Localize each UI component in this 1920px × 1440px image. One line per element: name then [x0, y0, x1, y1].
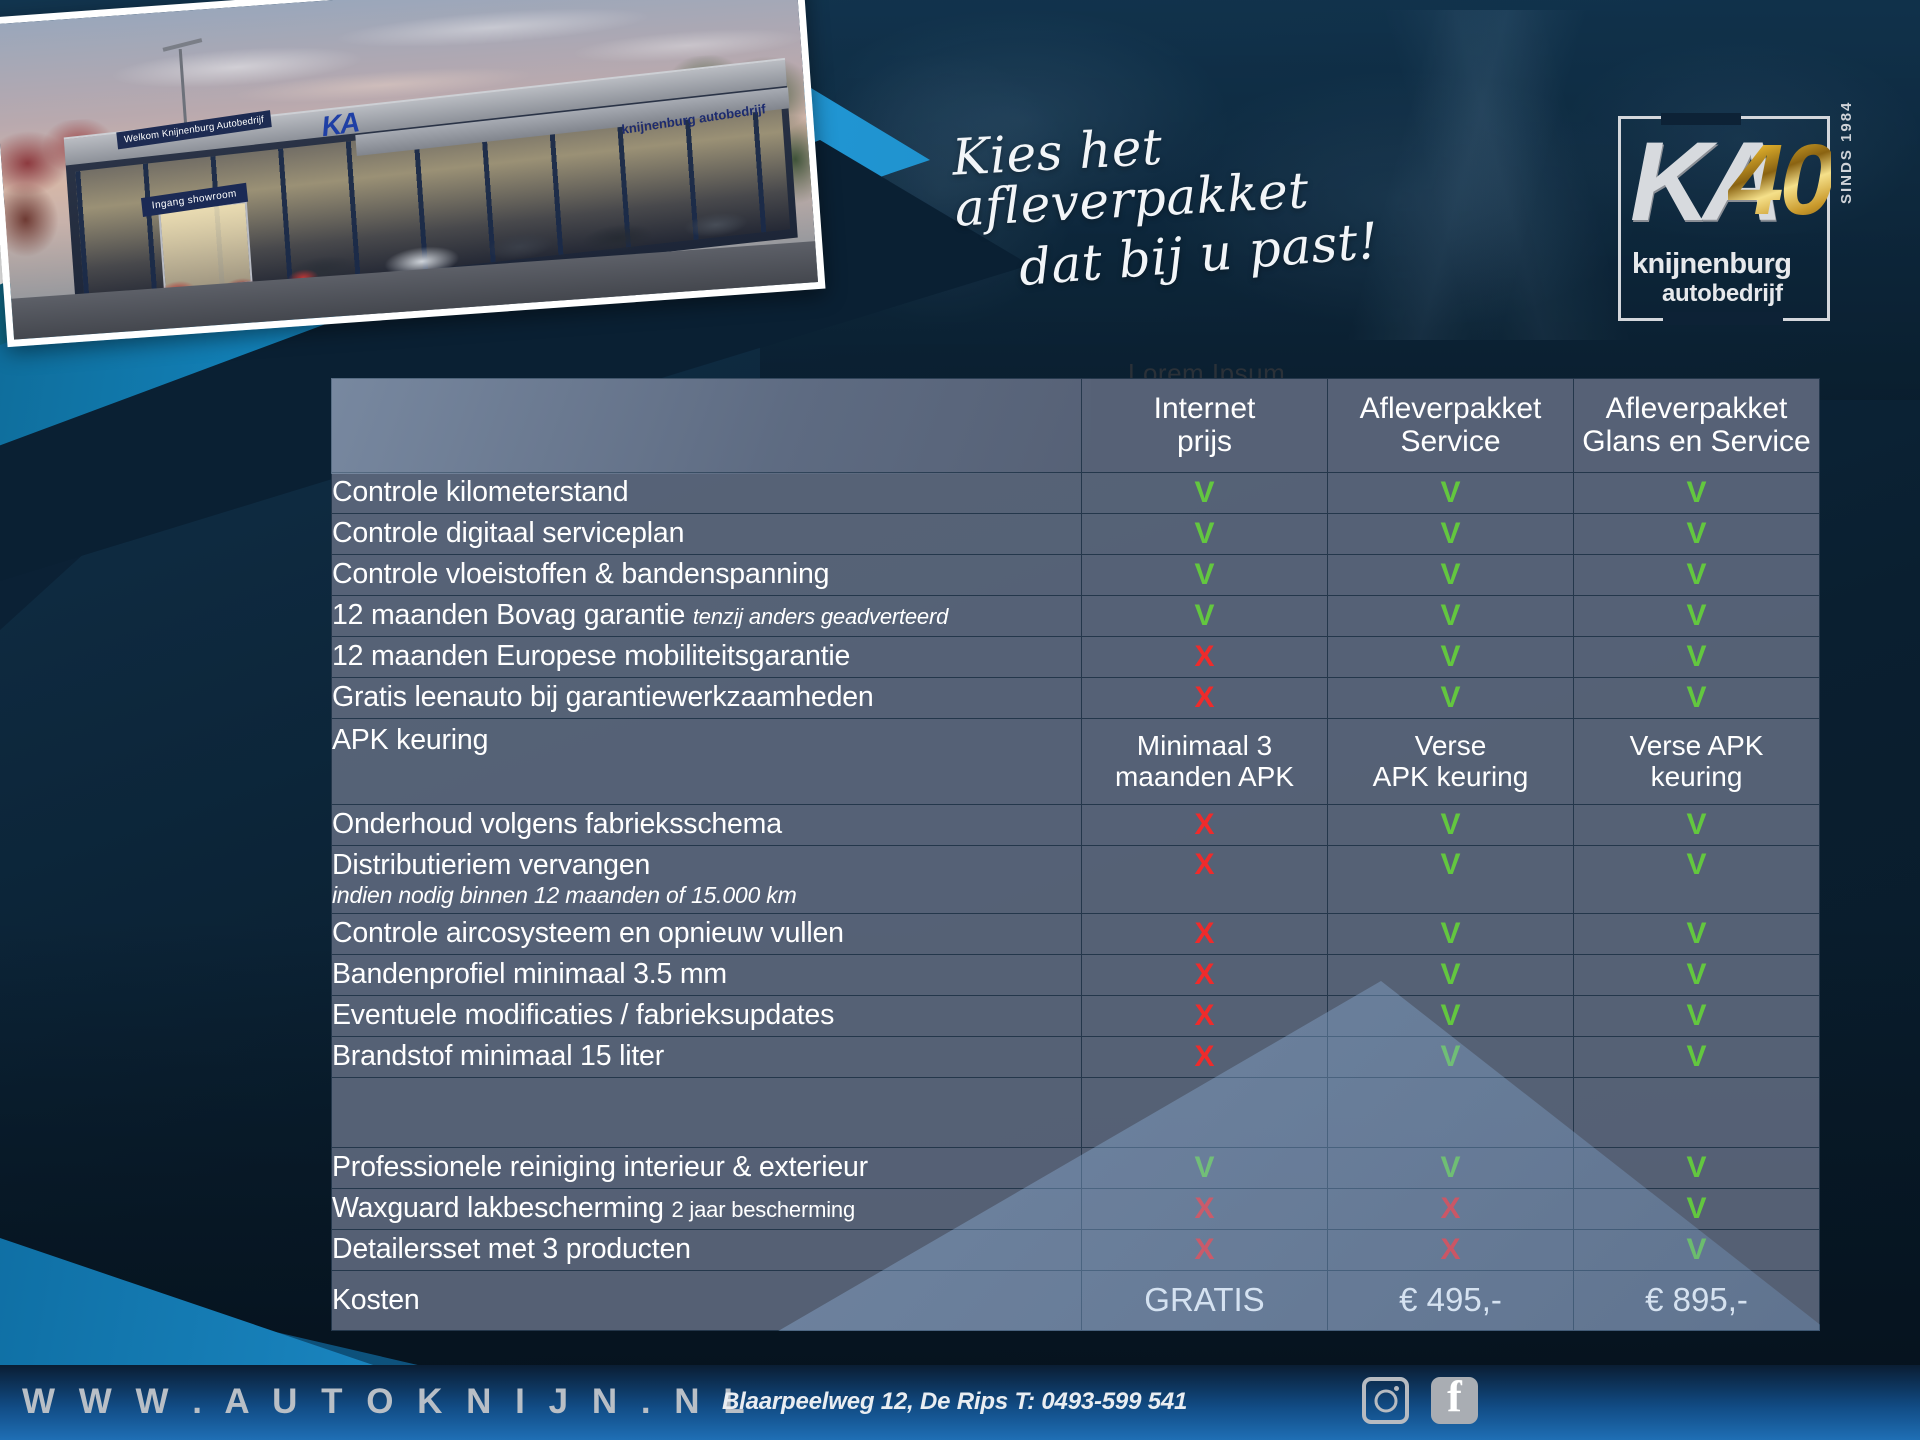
table-row: Controle kilometerstand V V V: [332, 473, 1820, 514]
cell-internet: X: [1082, 955, 1328, 996]
row-label: Controle aircosysteem en opnieuw vullen: [332, 914, 1082, 955]
cell-glans: V: [1574, 473, 1820, 514]
footer-social-links: f: [1362, 1377, 1478, 1424]
header-service-line2: Service: [1400, 425, 1500, 458]
cell-internet: X: [1082, 1230, 1328, 1271]
cell-service: [1328, 1078, 1574, 1148]
cell-glans: V: [1574, 846, 1820, 914]
cell-glans: V: [1574, 555, 1820, 596]
cell-glans: V: [1574, 678, 1820, 719]
cell-service: X: [1328, 1189, 1574, 1230]
cell-glans: V: [1574, 914, 1820, 955]
cell-service: V: [1328, 473, 1574, 514]
company-logo: KA 40 knijnenburg autobedrijf SINDS 1984: [1600, 108, 1870, 338]
cell-service: V: [1328, 955, 1574, 996]
table-row: Controle aircosysteem en opnieuw vullen …: [332, 914, 1820, 955]
row-label-main: Waxguard lakbescherming: [332, 1192, 664, 1224]
cell-internet-line2: maanden APK: [1115, 761, 1294, 792]
header-internet-line1: Internet: [1154, 392, 1256, 425]
header-internet-prijs: Internet prijs: [1082, 379, 1328, 473]
cell-internet: V: [1082, 473, 1328, 514]
facebook-icon[interactable]: f: [1431, 1377, 1478, 1424]
row-label-main: Distributieriem vervangen: [332, 849, 650, 881]
table-row: APK keuring Minimaal 3 maanden APK Verse…: [332, 719, 1820, 805]
cell-internet: X: [1082, 1189, 1328, 1230]
cell-internet: X: [1082, 996, 1328, 1037]
cell-service: V: [1328, 555, 1574, 596]
cell-internet: X: [1082, 914, 1328, 955]
cell-internet: X: [1082, 846, 1328, 914]
cell-internet: Minimaal 3 maanden APK: [1082, 719, 1328, 805]
cell-glans: V: [1574, 637, 1820, 678]
cell-glans: Verse APK keuring: [1574, 719, 1820, 805]
header-glans-line1: Afleverpakket: [1606, 392, 1788, 425]
cell-service-line2: APK keuring: [1373, 761, 1529, 792]
row-label: [332, 1078, 1082, 1148]
table-row: Bandenprofiel minimaal 3.5 mm X V V: [332, 955, 1820, 996]
row-label: Controle vloeistoffen & bandenspanning: [332, 555, 1082, 596]
poster-page: Welkom Knijnenburg Autobedrijf KA knijne…: [0, 0, 1920, 1440]
cell-internet: [1082, 1078, 1328, 1148]
table-row: Distributieriem vervangen indien nodig b…: [332, 846, 1820, 914]
row-label-note: tenzij anders geadverteerd: [693, 604, 948, 629]
logo-since-text: SINDS 1984: [1838, 101, 1855, 204]
table-row: 12 maanden Europese mobiliteitsgarantie …: [332, 637, 1820, 678]
cell-service: V: [1328, 996, 1574, 1037]
cell-glans: V: [1574, 1148, 1820, 1189]
header-glans-line2: Glans en Service: [1582, 425, 1810, 458]
row-label: Detailersset met 3 producten: [332, 1230, 1082, 1271]
table-row: Professionele reiniging interieur & exte…: [332, 1148, 1820, 1189]
cell-service: V: [1328, 1148, 1574, 1189]
cell-glans: V: [1574, 596, 1820, 637]
row-label: Eventuele modificaties / fabrieksupdates: [332, 996, 1082, 1037]
logo-company-subtitle: autobedrijf: [1662, 280, 1783, 308]
row-label-sub: indien nodig binnen 12 maanden of 15.000…: [332, 883, 1081, 909]
dealership-photo: Welkom Knijnenburg Autobedrijf KA knijne…: [0, 0, 825, 347]
row-label: Distributieriem vervangen indien nodig b…: [332, 846, 1082, 914]
cell-internet: X: [1082, 637, 1328, 678]
cell-service: Verse APK keuring: [1328, 719, 1574, 805]
footer-bar: W W W . A U T O K N I J N . N L Blaarpee…: [0, 1365, 1920, 1440]
cell-internet: V: [1082, 514, 1328, 555]
cell-internet: V: [1082, 1148, 1328, 1189]
row-label: Brandstof minimaal 15 liter: [332, 1037, 1082, 1078]
cell-glans: V: [1574, 1230, 1820, 1271]
facebook-glyph: f: [1431, 1375, 1478, 1419]
table-row: 12 maanden Bovag garantie tenzij anders …: [332, 596, 1820, 637]
table-row: Eventuele modificaties / fabrieksupdates…: [332, 996, 1820, 1037]
table-row-kosten: Kosten GRATIS € 495,- € 895,-: [332, 1271, 1820, 1331]
cell-glans: V: [1574, 1037, 1820, 1078]
header-internet-line2: prijs: [1177, 425, 1232, 458]
cell-glans: V: [1574, 805, 1820, 846]
header-service-line1: Afleverpakket: [1360, 392, 1542, 425]
cell-glans-line2: keuring: [1651, 761, 1743, 792]
cell-service: V: [1328, 1037, 1574, 1078]
cell-internet: V: [1082, 596, 1328, 637]
row-label: Controle digitaal serviceplan: [332, 514, 1082, 555]
cell-service: V: [1328, 805, 1574, 846]
cell-service-line1: Verse: [1415, 730, 1487, 761]
row-label: Waxguard lakbescherming 2 jaar beschermi…: [332, 1189, 1082, 1230]
cell-glans-line1: Verse APK: [1630, 730, 1764, 761]
logo-anniversary-40-icon: 40: [1728, 130, 1831, 230]
row-label: 12 maanden Bovag garantie tenzij anders …: [332, 596, 1082, 637]
cell-service: X: [1328, 1230, 1574, 1271]
footer-website[interactable]: W W W . A U T O K N I J N . N L: [22, 1382, 752, 1422]
row-label: APK keuring: [332, 719, 1082, 805]
row-label: Onderhoud volgens fabrieksschema: [332, 805, 1082, 846]
header-afleverpakket-glans: Afleverpakket Glans en Service: [1574, 379, 1820, 473]
cell-service: V: [1328, 514, 1574, 555]
row-label: 12 maanden Europese mobiliteitsgarantie: [332, 637, 1082, 678]
header-feature: [332, 379, 1082, 473]
cell-internet-line1: Minimaal 3: [1137, 730, 1272, 761]
cell-internet: V: [1082, 555, 1328, 596]
table-header-row: Internet prijs Afleverpakket Service Afl…: [332, 379, 1820, 473]
table-row: Controle digitaal serviceplan V V V: [332, 514, 1820, 555]
cell-service: V: [1328, 596, 1574, 637]
cell-internet: X: [1082, 678, 1328, 719]
table-row: Waxguard lakbescherming 2 jaar beschermi…: [332, 1189, 1820, 1230]
cell-internet-price: GRATIS: [1082, 1271, 1328, 1331]
cell-service: V: [1328, 846, 1574, 914]
instagram-icon[interactable]: [1362, 1377, 1409, 1424]
row-label-main: 12 maanden Bovag garantie: [332, 599, 685, 631]
cell-glans: V: [1574, 955, 1820, 996]
footer-address-phone: Blaarpeelweg 12, De Rips T: 0493-599 541: [722, 1388, 1187, 1416]
photo-ka-logo-icon: KA: [320, 106, 360, 143]
table-row: Brandstof minimaal 15 liter X V V: [332, 1037, 1820, 1078]
cell-internet: X: [1082, 1037, 1328, 1078]
cell-internet: X: [1082, 805, 1328, 846]
cell-service: V: [1328, 637, 1574, 678]
cell-glans: V: [1574, 514, 1820, 555]
row-label-note: 2 jaar bescherming: [671, 1197, 855, 1222]
table-row: Detailersset met 3 producten X X V: [332, 1230, 1820, 1271]
row-label: Gratis leenauto bij garantiewerkzaamhede…: [332, 678, 1082, 719]
cell-service-price: € 495,-: [1328, 1271, 1574, 1331]
cell-glans: V: [1574, 996, 1820, 1037]
table-row: Controle vloeistoffen & bandenspanning V…: [332, 555, 1820, 596]
table-row: Gratis leenauto bij garantiewerkzaamhede…: [332, 678, 1820, 719]
comparison-table: Internet prijs Afleverpakket Service Afl…: [331, 378, 1820, 1331]
logo-company-name: knijnenburg: [1632, 248, 1791, 281]
table-row: Onderhoud volgens fabrieksschema X V V: [332, 805, 1820, 846]
row-label: Controle kilometerstand: [332, 473, 1082, 514]
row-label: Bandenprofiel minimaal 3.5 mm: [332, 955, 1082, 996]
cell-service: V: [1328, 914, 1574, 955]
table-row-spacer: [332, 1078, 1820, 1148]
cell-service: V: [1328, 678, 1574, 719]
header-afleverpakket-service: Afleverpakket Service: [1328, 379, 1574, 473]
row-label: Kosten: [332, 1271, 1082, 1331]
comparison-table-wrapper: Internet prijs Afleverpakket Service Afl…: [331, 378, 1820, 1331]
cell-glans: [1574, 1078, 1820, 1148]
row-label: Professionele reiniging interieur & exte…: [332, 1148, 1082, 1189]
cell-glans: V: [1574, 1189, 1820, 1230]
cell-glans-price: € 895,-: [1574, 1271, 1820, 1331]
